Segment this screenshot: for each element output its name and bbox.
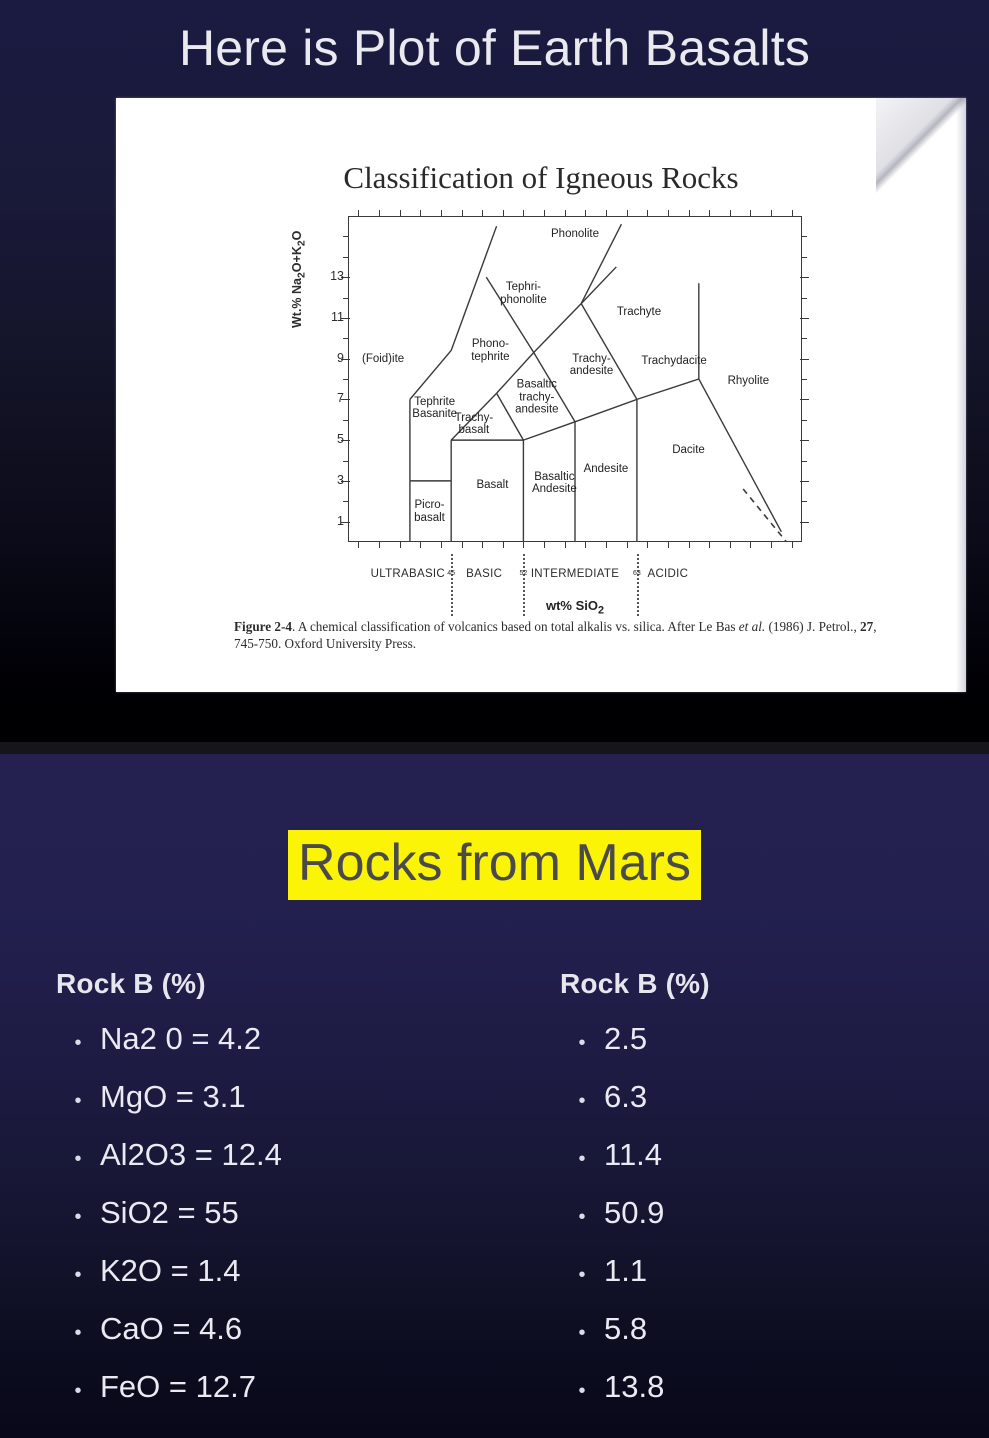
tas-diagram: Wt.% Na2O+K2O 135791113 (Foid)itePhonoli… — [348, 216, 802, 542]
x-tick — [400, 210, 401, 216]
x-tick — [523, 210, 524, 216]
x-tick — [379, 542, 380, 548]
slide-stage: Here is Plot of Earth Basalts Classifica… — [0, 0, 989, 1438]
column-rock-b-right: Rock B (%) •2.5•6.3•11.4•50.9•1.1•5.8•13… — [560, 968, 940, 1418]
list-item: •MgO = 3.1 — [56, 1070, 496, 1128]
y-tick — [343, 501, 349, 502]
list-left: •Na2 0 = 4.2•MgO = 3.1•Al2O3 = 12.4•SiO2… — [56, 1012, 496, 1418]
y-tick-label: 11 — [318, 310, 344, 324]
x-tick — [565, 210, 566, 216]
rock-field-label: Picro- basalt — [414, 499, 445, 523]
x-tick — [358, 542, 359, 548]
slide-rocks-from-mars: Rocks from Mars Rock B (%) •Na2 0 = 4.2•… — [0, 754, 989, 1438]
x-tick — [689, 542, 690, 548]
y-tick — [801, 501, 807, 502]
band-divider — [451, 554, 453, 616]
y-tick — [801, 236, 807, 237]
y-tick — [343, 236, 349, 237]
y-tick — [800, 522, 809, 523]
figure-caption: Figure 2-4. A chemical classification of… — [234, 618, 894, 652]
x-tick — [730, 210, 731, 216]
list-item-label: FeO = 12.7 — [100, 1360, 256, 1413]
list-item-label: Na2 0 = 4.2 — [100, 1012, 261, 1065]
x-tick — [503, 542, 504, 548]
bullet-icon: • — [560, 1249, 604, 1302]
list-item-label: 13.8 — [604, 1360, 664, 1413]
rock-field-label: Tephrite Basanite — [412, 395, 457, 419]
silica-band-label: ACIDIC — [647, 568, 688, 580]
y-tick — [800, 440, 809, 441]
list-item: •13.8 — [560, 1360, 940, 1418]
x-tick — [544, 542, 545, 548]
x-tick — [420, 210, 421, 216]
list-item: •50.9 — [560, 1186, 940, 1244]
x-tick — [647, 542, 648, 548]
list-item-label: 50.9 — [604, 1186, 664, 1239]
y-tick — [801, 379, 807, 380]
y-tick — [800, 277, 809, 278]
x-tick — [730, 542, 731, 548]
band-divider-value: 63 — [633, 570, 641, 577]
list-item-label: 11.4 — [604, 1128, 662, 1181]
rock-field-label: Basaltic Andesite — [532, 471, 577, 495]
bullet-icon: • — [560, 1075, 604, 1128]
page-title: Here is Plot of Earth Basalts — [0, 18, 989, 78]
y-tick — [801, 338, 807, 339]
list-item: •FeO = 12.7 — [56, 1360, 496, 1418]
bullet-icon: • — [56, 1075, 100, 1128]
rock-field-label: Basaltic trachy- andesite — [515, 379, 558, 416]
x-tick — [462, 542, 463, 548]
caption-volume: 27 — [860, 619, 873, 634]
bullet-icon: • — [560, 1191, 604, 1244]
list-item-label: K2O = 1.4 — [100, 1244, 240, 1297]
bullet-icon: • — [560, 1365, 604, 1418]
rock-field-label: Rhyolite — [728, 375, 770, 387]
mars-heading-wrap: Rocks from Mars — [0, 830, 989, 900]
list-item-label: MgO = 3.1 — [100, 1070, 246, 1123]
list-item: •1.1 — [560, 1244, 940, 1302]
x-tick — [709, 210, 710, 216]
list-item: •2.5 — [560, 1012, 940, 1070]
bullet-icon: • — [560, 1307, 604, 1360]
bullet-icon: • — [56, 1191, 100, 1244]
x-tick — [606, 542, 607, 548]
band-divider — [523, 554, 525, 616]
x-tick — [668, 542, 669, 548]
y-tick-label: 5 — [318, 432, 344, 446]
silica-band-label: BASIC — [466, 568, 502, 580]
silica-band-label: INTERMEDIATE — [531, 568, 619, 580]
list-item: •K2O = 1.4 — [56, 1244, 496, 1302]
bullet-icon: • — [56, 1017, 100, 1070]
column-header-left: Rock B (%) — [56, 968, 496, 1000]
band-divider-value: 52 — [520, 570, 528, 577]
y-tick-label: 9 — [318, 351, 344, 365]
y-tick — [343, 338, 349, 339]
x-tick — [606, 210, 607, 216]
y-tick-label: 7 — [318, 391, 344, 405]
x-tick — [627, 210, 628, 216]
band-divider — [637, 554, 639, 616]
y-tick — [343, 298, 349, 299]
caption-text-2: (1986) J. Petrol., — [765, 619, 860, 634]
x-tick — [462, 210, 463, 216]
x-tick — [585, 210, 586, 216]
y-axis-title: Wt.% Na2O+K2O — [290, 231, 308, 328]
caption-figure-number: Figure 2-4 — [234, 619, 292, 634]
list-item: •6.3 — [560, 1070, 940, 1128]
x-tick — [503, 210, 504, 216]
x-tick — [668, 210, 669, 216]
bullet-icon: • — [56, 1307, 100, 1360]
rock-field-label: (Foid)ite — [362, 353, 404, 365]
list-item-label: Al2O3 = 12.4 — [100, 1128, 282, 1181]
y-tick — [343, 461, 349, 462]
rock-field-label: Phono- tephrite — [471, 338, 509, 362]
list-item: •CaO = 4.6 — [56, 1302, 496, 1360]
x-tick — [358, 210, 359, 216]
x-tick — [750, 210, 751, 216]
silica-band-label: ULTRABASIC — [371, 568, 445, 580]
x-tick — [689, 210, 690, 216]
column-header-right: Rock B (%) — [560, 968, 940, 1000]
list-item-label: 6.3 — [604, 1070, 647, 1123]
list-item-label: 5.8 — [604, 1302, 647, 1355]
list-item: •11.4 — [560, 1128, 940, 1186]
list-right: •2.5•6.3•11.4•50.9•1.1•5.8•13.8 — [560, 1012, 940, 1418]
bullet-icon: • — [560, 1017, 604, 1070]
rock-field-label: Trachydacite — [641, 355, 706, 367]
list-item-label: SiO2 = 55 — [100, 1186, 239, 1239]
rock-field-label: Trachy- andesite — [570, 353, 613, 377]
caption-etal: et al. — [739, 619, 765, 634]
x-axis-title: wt% SiO2 — [546, 598, 604, 617]
slide-earth-basalts: Here is Plot of Earth Basalts Classifica… — [0, 0, 989, 742]
x-tick — [523, 542, 524, 548]
x-tick — [565, 542, 566, 548]
y-tick — [343, 379, 349, 380]
list-item: •Na2 0 = 4.2 — [56, 1012, 496, 1070]
bullet-icon: • — [560, 1133, 604, 1186]
list-item-label: 2.5 — [604, 1012, 647, 1065]
y-tick — [801, 298, 807, 299]
rock-field-label: Trachy- basalt — [455, 412, 494, 436]
y-tick — [343, 420, 349, 421]
rock-field-label: Basalt — [476, 479, 508, 491]
y-tick — [800, 359, 809, 360]
list-item: •Al2O3 = 12.4 — [56, 1128, 496, 1186]
x-tick — [441, 542, 442, 548]
list-item: •5.8 — [560, 1302, 940, 1360]
x-tick — [441, 210, 442, 216]
x-tick — [750, 542, 751, 548]
bullet-icon: • — [56, 1133, 100, 1186]
y-tick — [800, 318, 809, 319]
x-tick — [379, 210, 380, 216]
list-item: •SiO2 = 55 — [56, 1186, 496, 1244]
x-tick — [420, 542, 421, 548]
x-tick — [482, 542, 483, 548]
band-divider-value: 45 — [447, 570, 455, 577]
y-tick — [801, 461, 807, 462]
x-tick — [792, 210, 793, 216]
rock-field-label: Andesite — [584, 463, 629, 475]
caption-text-1: . A chemical classification of volcanics… — [292, 619, 739, 634]
x-tick — [544, 210, 545, 216]
rock-field-label: Trachyte — [617, 306, 661, 318]
x-tick — [771, 542, 772, 548]
y-tick — [800, 481, 809, 482]
x-tick — [400, 542, 401, 548]
x-tick — [627, 542, 628, 548]
rock-field-label: Tephri- phonolite — [500, 281, 547, 305]
mars-heading: Rocks from Mars — [288, 830, 701, 900]
slide-divider — [0, 742, 989, 754]
column-rock-b-left: Rock B (%) •Na2 0 = 4.2•MgO = 3.1•Al2O3 … — [56, 968, 496, 1418]
y-tick-label: 13 — [318, 269, 344, 283]
figure-title: Classification of Igneous Rocks — [116, 160, 966, 196]
x-tick — [771, 210, 772, 216]
list-item-label: CaO = 4.6 — [100, 1302, 242, 1355]
y-tick-label: 3 — [318, 473, 344, 487]
x-tick — [647, 210, 648, 216]
rock-field-label: Phonolite — [551, 228, 599, 240]
x-tick — [482, 210, 483, 216]
y-tick-label: 1 — [318, 514, 344, 528]
rock-field-label: Dacite — [672, 444, 705, 456]
y-tick — [343, 257, 349, 258]
bullet-icon: • — [56, 1365, 100, 1418]
bullet-icon: • — [56, 1249, 100, 1302]
y-tick — [801, 257, 807, 258]
x-tick — [792, 542, 793, 548]
x-tick — [709, 542, 710, 548]
scanned-figure-panel: Classification of Igneous Rocks Wt.% Na2… — [116, 98, 966, 692]
y-tick — [800, 399, 809, 400]
x-tick — [585, 542, 586, 548]
y-tick — [801, 420, 807, 421]
list-item-label: 1.1 — [604, 1244, 647, 1297]
